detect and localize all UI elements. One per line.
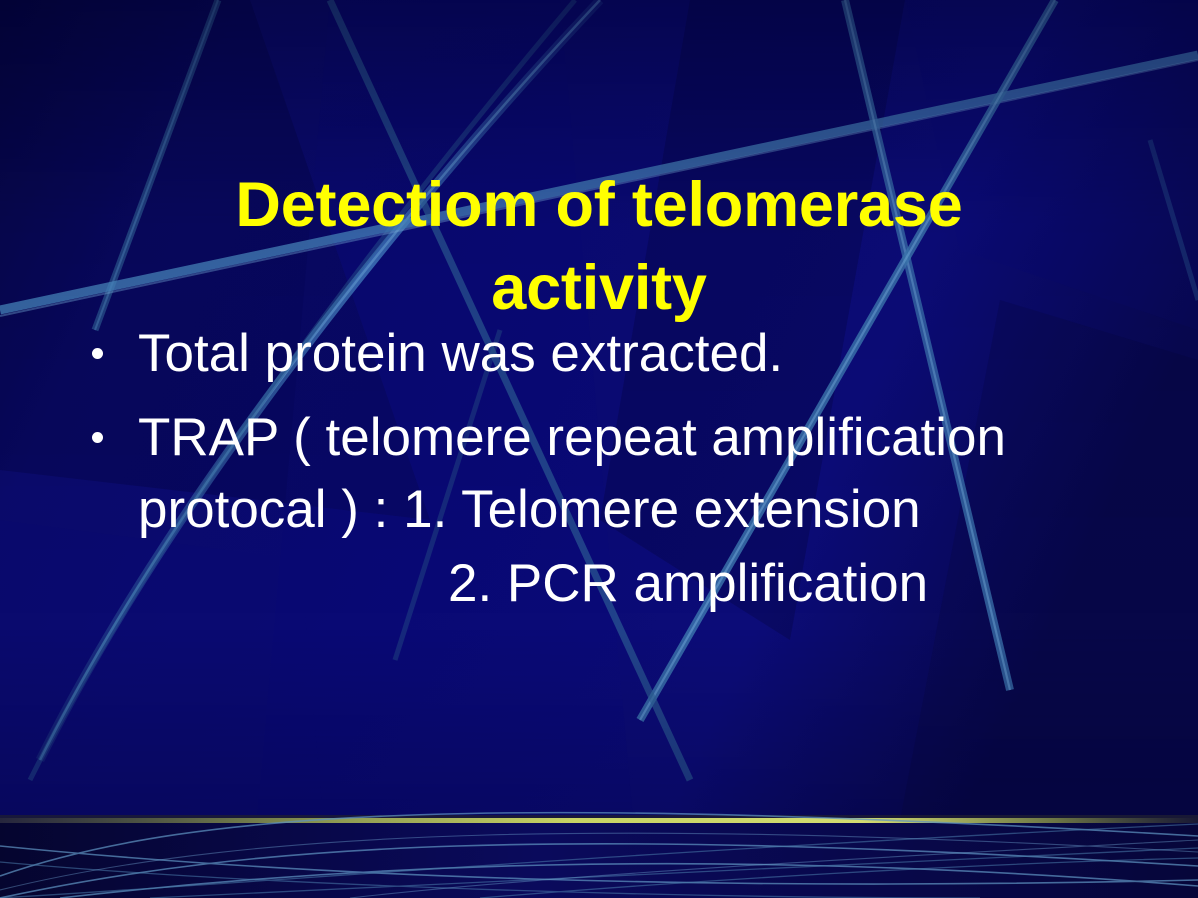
bullet-text-1: Total protein was extracted. [138,318,1156,390]
bullet-text-2-continuation: 2. PCR amplification [138,548,1156,620]
slide-title: Detectiom of telomerase activity [120,164,1078,330]
presentation-slide: Detectiom of telomerase activity Total p… [0,0,1198,898]
bullet-item-2: TRAP ( telomere repeat amplification pro… [86,402,1156,620]
slide-content: Detectiom of telomerase activity Total p… [0,0,1198,898]
bullet-dot-icon [92,348,103,359]
slide-body: Total protein was extracted. TRAP ( telo… [86,318,1156,620]
bullet-text-2: TRAP ( telomere repeat amplification pro… [138,402,1156,546]
bullet-item-1: Total protein was extracted. [86,318,1156,390]
bullet-dot-icon [92,432,103,443]
